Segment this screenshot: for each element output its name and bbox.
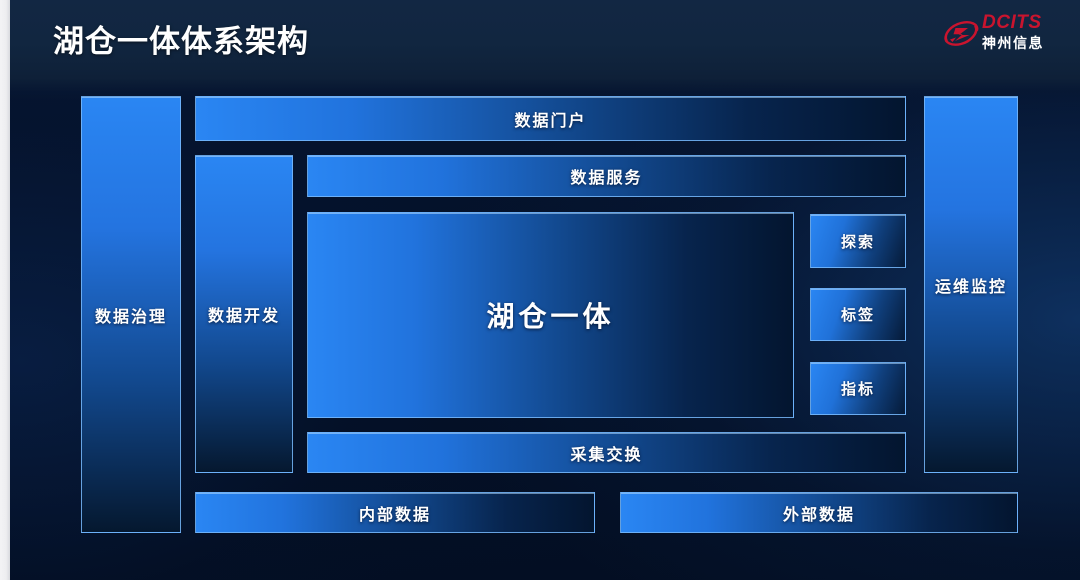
row-data-service[interactable]: 数据服务 xyxy=(307,155,906,197)
column-data-development-label: 数据开发 xyxy=(208,302,280,326)
brand-logo: DCITS 神州信息 xyxy=(942,12,1058,56)
chip-metrics[interactable]: 指标 xyxy=(810,362,906,415)
chip-metrics-label: 指标 xyxy=(841,378,875,399)
chip-explore-label: 探索 xyxy=(841,231,875,252)
logo-english-text: DCITS xyxy=(982,12,1058,34)
logo-chinese-text: 神州信息 xyxy=(982,34,1058,52)
column-data-governance-label: 数据治理 xyxy=(95,303,167,327)
row-internal-data-label: 内部数据 xyxy=(359,501,431,525)
column-data-development[interactable]: 数据开发 xyxy=(195,155,293,473)
slide-canvas: 湖仓一体体系架构 DCITS 神州信息 数据治理 数据开发 运维监控 数 xyxy=(0,0,1080,580)
column-data-governance[interactable]: 数据治理 xyxy=(81,96,181,533)
chip-explore[interactable]: 探索 xyxy=(810,214,906,268)
chip-tags[interactable]: 标签 xyxy=(810,288,906,341)
column-ops-monitoring-label: 运维监控 xyxy=(935,273,1007,297)
row-external-data[interactable]: 外部数据 xyxy=(620,492,1018,533)
row-data-service-label: 数据服务 xyxy=(570,164,642,188)
row-collect-exchange-label: 采集交换 xyxy=(570,441,642,465)
logo-wordmark: DCITS 神州信息 xyxy=(982,12,1058,52)
row-external-data-label: 外部数据 xyxy=(783,501,855,525)
row-data-portal-label: 数据门户 xyxy=(514,107,586,131)
row-data-portal[interactable]: 数据门户 xyxy=(195,96,906,141)
dcits-swirl-icon xyxy=(942,16,980,50)
page-title: 湖仓一体体系架构 xyxy=(53,16,309,61)
core-lakehouse[interactable]: 湖仓一体 xyxy=(307,212,794,418)
chip-tags-label: 标签 xyxy=(841,304,875,325)
row-internal-data[interactable]: 内部数据 xyxy=(195,492,595,533)
column-ops-monitoring[interactable]: 运维监控 xyxy=(924,96,1018,473)
row-collect-exchange[interactable]: 采集交换 xyxy=(307,432,906,473)
core-lakehouse-label: 湖仓一体 xyxy=(486,295,614,335)
slide-left-edge-strip xyxy=(0,0,10,580)
